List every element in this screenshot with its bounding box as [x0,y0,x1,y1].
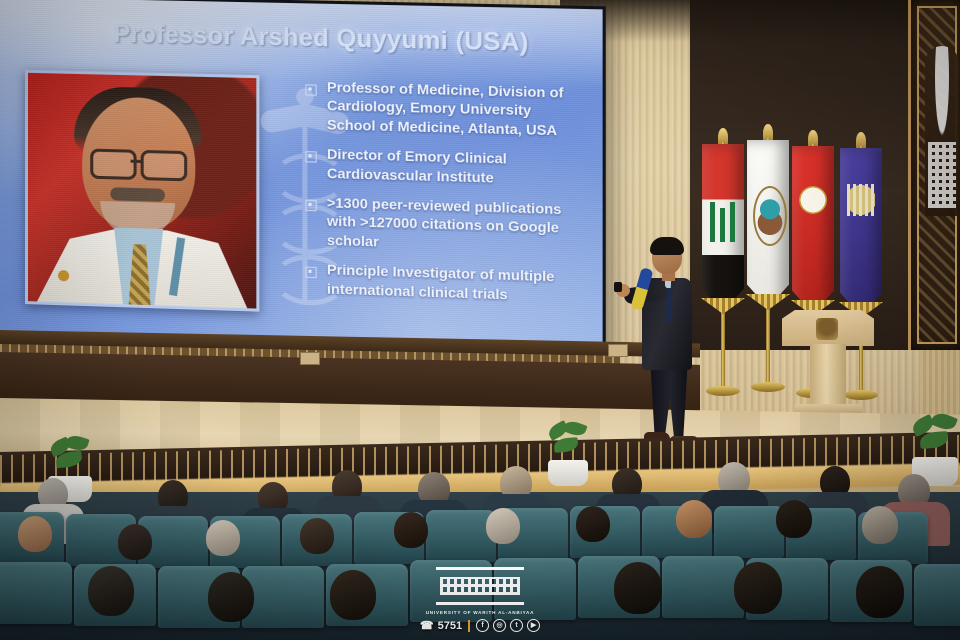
flag-cloth [747,140,789,308]
flag-base [751,382,785,392]
flag-cloth [840,148,882,316]
auditorium-seat [494,558,576,620]
caduceus-wing-left [259,104,308,134]
audience-member-head [18,516,52,552]
portrait-lapel-pin [58,270,69,281]
audience-member-head [300,518,334,554]
wall-socket-icon [300,352,320,365]
presenter-hair [650,237,684,255]
audience-member-head [206,520,240,556]
audience-member-head [208,572,254,622]
plant-pot [548,460,588,486]
presenter-legs [648,366,690,438]
slide-bullet-list: Professor of Medicine, Division of Cardi… [305,78,582,318]
portrait-mustache [110,187,165,202]
bullet-text: Director of Emory Clinical Cardiovascula… [327,146,583,190]
audience-member-head [734,562,782,614]
presenter-with-microphone [626,240,712,450]
slide-title: Professor Arshed Quyyumi (USA) [113,20,528,58]
bullet-square-icon [305,267,316,278]
audience-member-head [576,506,610,542]
bullet-square-icon [305,151,316,162]
audience-member-head [330,570,376,620]
flag-cloth [792,146,834,314]
speaker-portrait-photo [25,70,259,312]
presentation-slide: Professor Arshed Quyyumi (USA) [0,0,603,351]
auditorium-seat [410,560,492,622]
auditorium-seat [426,510,496,562]
bullet-text: >1300 peer-reviewed publications with >1… [327,194,583,258]
auditorium-seat [714,506,784,558]
audience-member-head [118,524,152,560]
audience-member-head [88,566,134,616]
audience-member-head [486,508,520,544]
podium-emblem-icon [816,318,838,340]
bullet-square-icon [305,200,316,211]
wooden-podium [782,310,874,422]
plant-leaf [554,437,579,453]
list-item: >1300 peer-reviewed publications with >1… [305,194,582,258]
audience-member-head [676,500,712,538]
plant-leaf [919,431,948,449]
university-emblem-wall-panel [908,0,960,350]
projection-screen: Professor Arshed Quyyumi (USA) [0,0,606,355]
conference-photo: Professor Arshed Quyyumi (USA) [0,0,960,640]
presentation-clicker [614,282,622,292]
auditorium-seat [662,556,744,618]
portrait-glasses-bridge [131,160,143,163]
bullet-text: Professor of Medicine, Division of Cardi… [327,79,583,141]
flag-fringe [746,294,790,310]
audience-member-head [776,500,812,538]
bullet-square-icon [305,84,316,95]
list-item: Professor of Medicine, Division of Cardi… [305,78,582,141]
audience-member-head [862,506,898,544]
audience-member-head [614,562,662,614]
auditorium-seat [242,566,324,628]
audience-member-head [394,512,428,548]
list-item: Director of Emory Clinical Cardiovascula… [305,145,582,190]
ceiling-shadow [560,0,960,42]
auditorium-seat [0,562,72,624]
auditorium-seat [914,564,960,626]
wall-socket-icon [608,344,628,357]
portrait-glasses-right [141,150,188,181]
potted-plant [548,424,588,486]
audience-member-head [856,566,904,618]
podium-column [810,344,846,406]
university-emblem-icon [925,46,959,216]
portrait-glasses-left [90,149,136,180]
list-item: Principle Investigator of multiple inter… [305,261,582,307]
bullet-text: Principle Investigator of multiple inter… [327,261,583,306]
